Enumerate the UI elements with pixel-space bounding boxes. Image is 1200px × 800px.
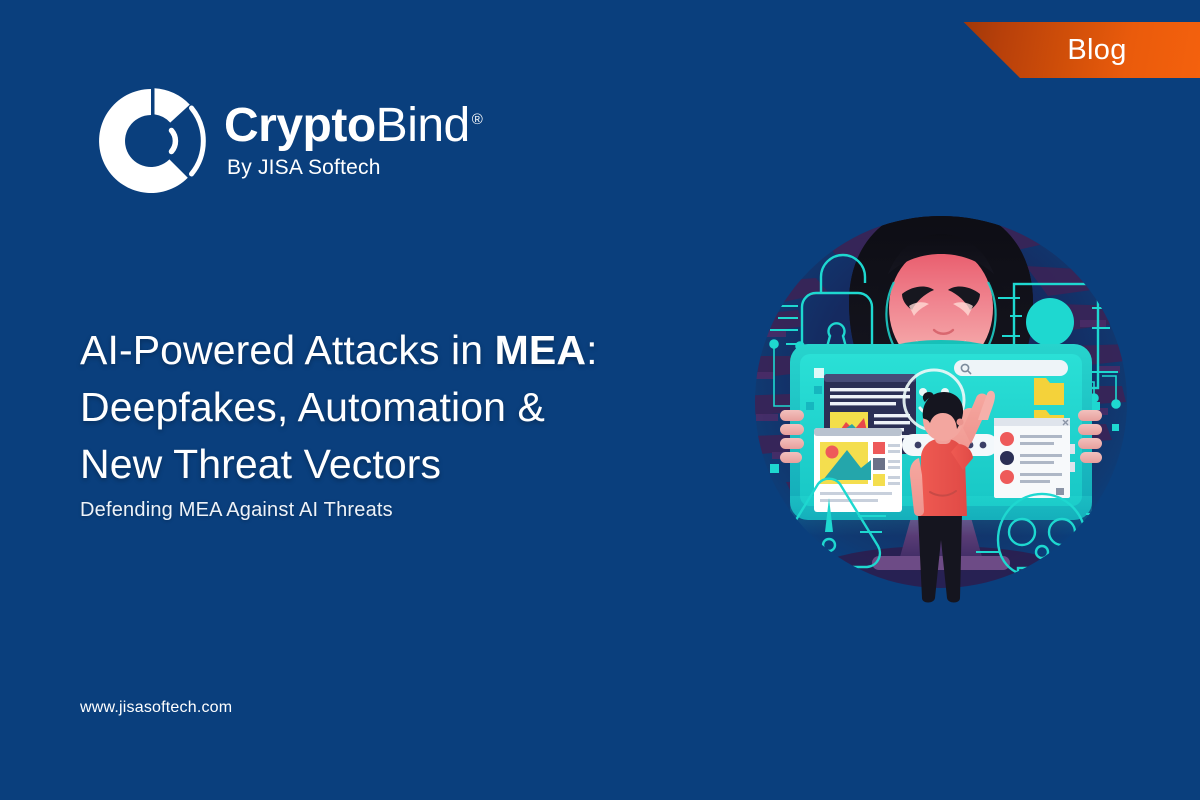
cyber-hacker-deepfake-illustration: [726, 196, 1156, 626]
website-url[interactable]: www.jisasoftech.com: [80, 699, 232, 717]
brand-logo[interactable]: CryptoBind® By JISA Softech: [92, 82, 482, 200]
white-chart-card: [814, 428, 902, 512]
page-subtitle: Defending MEA Against AI Threats: [80, 499, 393, 522]
registered-trademark-icon: ®: [472, 111, 483, 128]
blog-ribbon-label: Blog: [1033, 34, 1126, 67]
page-title: AI-Powered Attacks in MEA: Deepfakes, Au…: [80, 322, 720, 493]
logo-tagline: By JISA Softech: [227, 156, 482, 180]
headline-emphasis-mea: MEA: [495, 327, 586, 373]
monitor-base: [872, 556, 1010, 570]
cryptobind-circular-mark-icon: [92, 82, 210, 200]
headline-line1-pre: AI-Powered Attacks in: [80, 327, 495, 373]
search-bar[interactable]: [954, 360, 1068, 376]
headline-line2: Deepfakes, Automation &: [80, 384, 545, 430]
logo-wordmark: CryptoBind®: [224, 102, 482, 151]
headline-line3: New Threat Vectors: [80, 441, 441, 487]
logo-word-bind: Bind: [376, 99, 470, 152]
blog-ribbon[interactable]: Blog: [960, 22, 1200, 78]
headline-line1-post: :: [586, 327, 598, 373]
logo-word-crypto: Crypto: [224, 99, 376, 152]
notification-list-card: [994, 418, 1075, 498]
poster-canvas: Blog CryptoBind® By JISA Softech AI-Powe…: [0, 0, 1200, 800]
